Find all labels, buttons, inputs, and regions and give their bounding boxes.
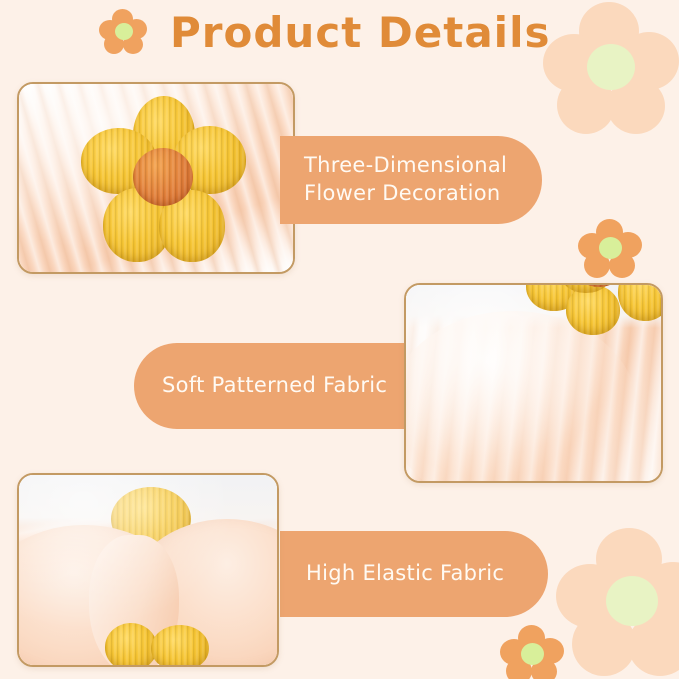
feature-label-text: Soft Patterned Fabric [162, 372, 387, 400]
flower-bottom-right-large-icon [556, 528, 679, 679]
flower-bottom-center-icon [500, 625, 564, 679]
photo-image [19, 475, 277, 665]
feature-label-high-elastic-fabric: High Elastic Fabric [280, 531, 548, 617]
flower-mid-right-icon [578, 219, 642, 279]
flower-title-icon [99, 9, 147, 55]
feature-label-text: High Elastic Fabric [306, 560, 504, 588]
feature-label-text: Three-Dimensional Flower Decoration [304, 152, 507, 207]
fabric-flower-graphic [81, 96, 246, 262]
header: Product Details [0, 0, 679, 80]
photo-image [406, 285, 661, 481]
feature-label-soft-patterned-fabric: Soft Patterned Fabric [134, 343, 424, 429]
fabric-flower-graphic [526, 285, 661, 361]
feature-label-three-dimensional-flower-decoration: Three-Dimensional Flower Decoration [280, 136, 542, 224]
feature-photo-high-elastic-fabric [17, 473, 279, 667]
photo-image [19, 84, 293, 272]
feature-photo-soft-patterned-fabric [404, 283, 663, 483]
page-title: Product Details [170, 8, 550, 57]
feature-photo-three-dimensional-flower-decoration [17, 82, 295, 274]
product-details-infographic: Product Details Soft Patterned Fabric Hi… [0, 0, 679, 679]
